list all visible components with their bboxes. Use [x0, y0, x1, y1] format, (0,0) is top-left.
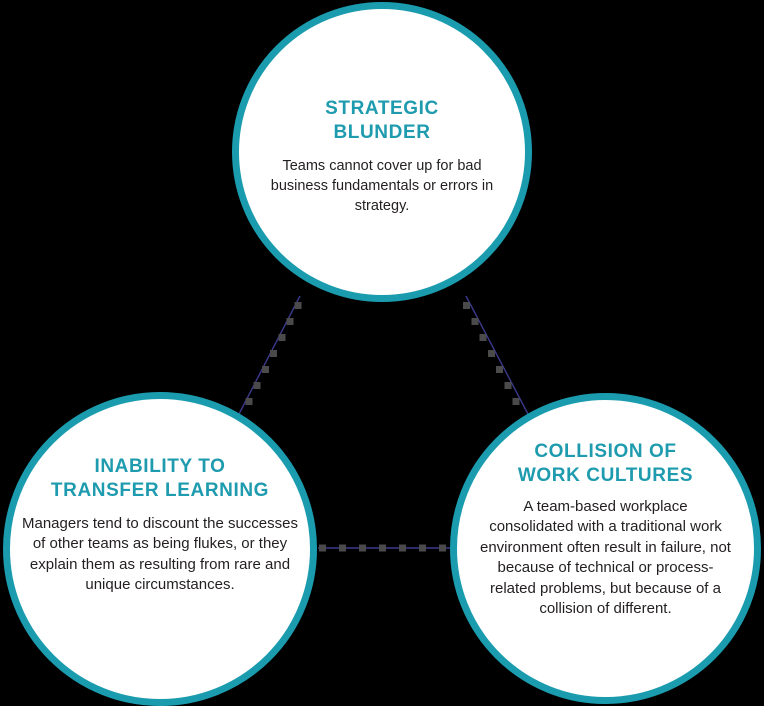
connector-top-to-right [463, 296, 529, 416]
node-title-inability-transfer-learning: INABILITY TO TRANSFER LEARNING [51, 455, 269, 502]
node-body-strategic-blunder: Teams cannot cover up for bad business f… [257, 157, 507, 216]
node-title-line-1: INABILITY TO [94, 456, 225, 477]
node-title-line-2: TRANSFER LEARNING [51, 480, 269, 501]
node-content: STRATEGIC BLUNDER Teams cannot cover up … [239, 97, 525, 216]
node-title-line-2: WORK CULTURES [518, 465, 693, 486]
connector-left-to-right [318, 545, 460, 552]
node-strategic-blunder[interactable]: STRATEGIC BLUNDER Teams cannot cover up … [232, 2, 532, 302]
node-content: COLLISION OF WORK CULTURES A team-based … [457, 440, 754, 619]
node-title-line-2: BLUNDER [333, 122, 430, 143]
node-body-inability-transfer-learning: Managers tend to discount the successes … [20, 514, 300, 596]
node-collision-work-cultures[interactable]: COLLISION OF WORK CULTURES A team-based … [450, 393, 761, 704]
connector-top-to-left [238, 296, 302, 416]
node-content: INABILITY TO TRANSFER LEARNING Managers … [10, 455, 310, 596]
node-title-line-1: COLLISION OF [534, 441, 676, 462]
node-title-strategic-blunder: STRATEGIC BLUNDER [325, 97, 439, 144]
node-inability-transfer-learning[interactable]: INABILITY TO TRANSFER LEARNING Managers … [3, 392, 317, 706]
node-body-collision-work-cultures: A team-based workplace consolidated with… [480, 497, 732, 619]
diagram-canvas: STRATEGIC BLUNDER Teams cannot cover up … [0, 0, 764, 705]
node-title-collision-work-cultures: COLLISION OF WORK CULTURES [518, 440, 693, 487]
node-title-line-1: STRATEGIC [325, 98, 439, 119]
